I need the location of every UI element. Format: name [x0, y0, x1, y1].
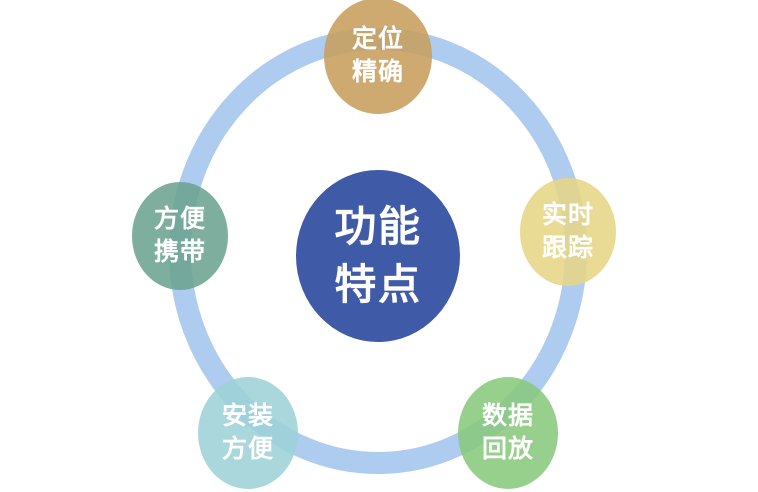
node-bubble-realtime-tracking[interactable] — [520, 178, 616, 286]
node-bubble-data-playback[interactable] — [458, 377, 558, 489]
diagram-canvas: 功能 特点 定位 精确 实时 跟踪 数据 回放 安装 方便 方便 携带 — [0, 0, 758, 492]
node-bubble-easy-installation[interactable] — [198, 377, 298, 489]
feature-wheel-diagram — [0, 0, 758, 492]
center-hub-circle[interactable] — [296, 170, 460, 342]
node-bubble-positioning-accurate[interactable] — [324, 0, 432, 114]
node-bubble-easy-to-carry[interactable] — [132, 182, 228, 290]
